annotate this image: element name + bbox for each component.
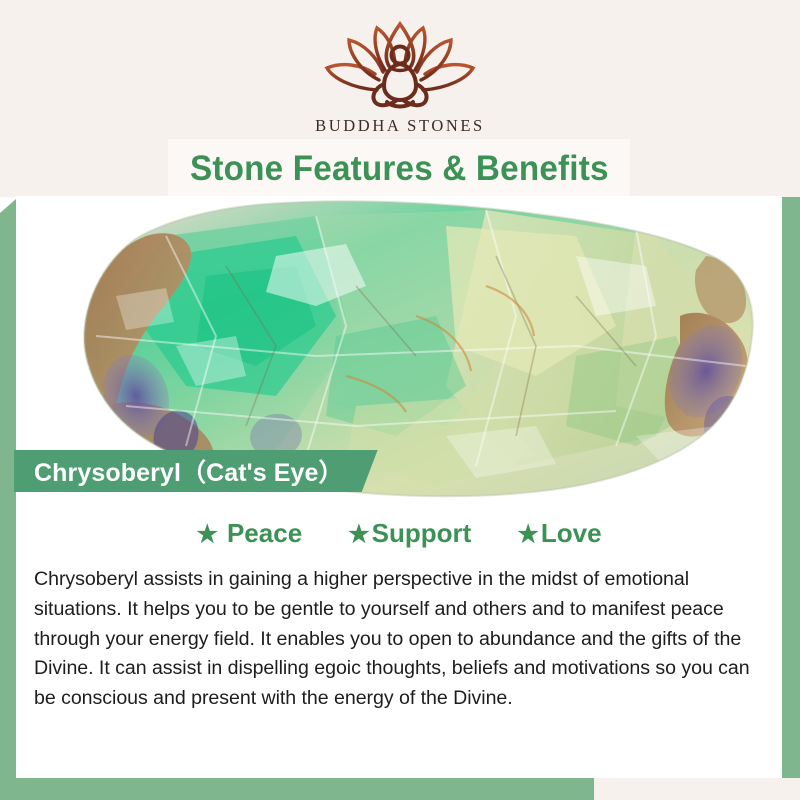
frame-band-bottom [0,778,620,800]
keyword-label: Love [541,518,602,549]
header: BUDDHA STONES Stone Features & Benefits [0,0,800,197]
keyword-love: ★ Love [517,518,601,549]
stone-name-banner: Chrysoberyl（Cat's Eye） [14,450,378,492]
keyword-support: ★ Support [348,518,471,549]
star-icon: ★ [348,523,370,547]
stone-description: Chrysoberyl assists in gaining a higher … [34,565,760,714]
keyword-label: Peace [227,518,302,549]
star-icon: ★ [517,523,539,547]
keyword-peace: ★ Peace [196,518,302,549]
frame-band-left [0,199,16,800]
bottom-cream-sliver [594,778,800,800]
star-icon: ★ [196,523,218,547]
keyword-label: Support [372,518,472,549]
stone-name: Chrysoberyl（Cat's Eye） [34,453,344,489]
benefit-keywords: ★ Peace ★ Support ★ Love [16,503,782,549]
stone-info-poster: BUDDHA STONES Stone Features & Benefits [0,0,800,800]
lotus-meditation-icon [0,18,800,114]
brand-logo: BUDDHA STONES [0,18,800,136]
brand-name: BUDDHA STONES [0,116,800,136]
page-title: Stone Features & Benefits [190,149,609,189]
content-area: ★ Peace ★ Support ★ Love Chrysoberyl ass… [16,503,782,778]
page-title-plaque: Stone Features & Benefits [168,141,630,197]
